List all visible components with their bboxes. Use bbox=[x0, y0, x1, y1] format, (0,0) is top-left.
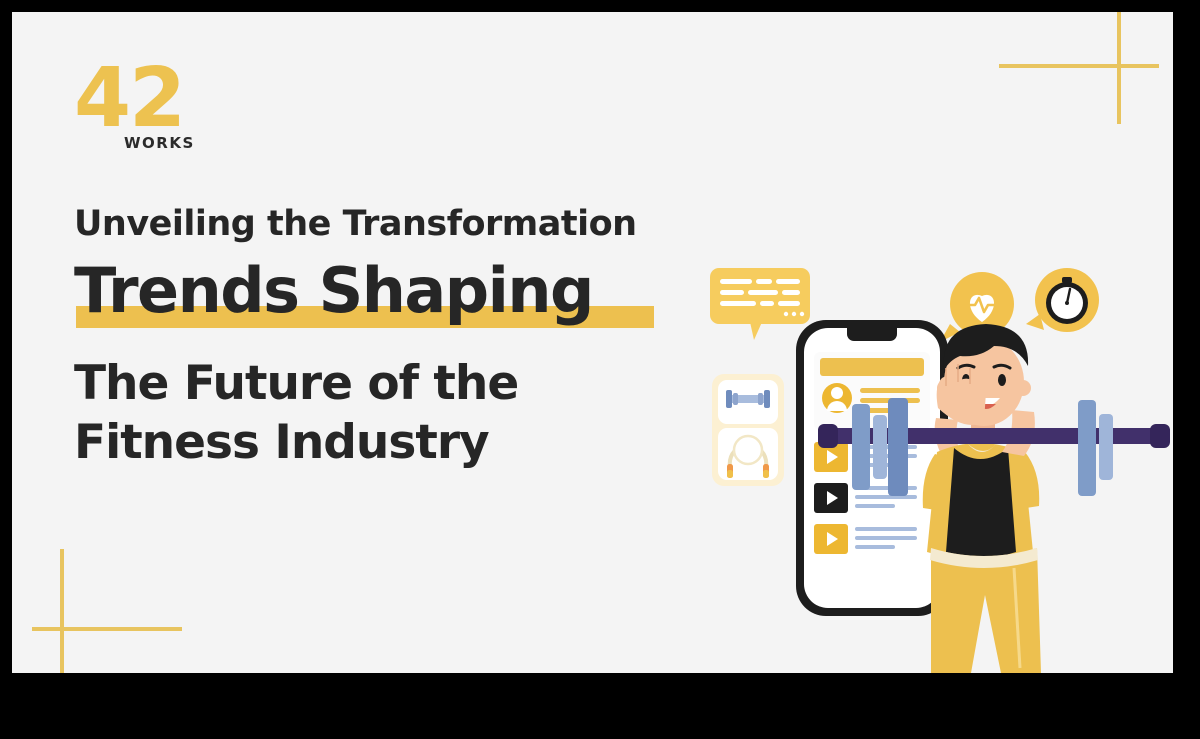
phone-mockup bbox=[796, 320, 948, 616]
headline-subline-2: Fitness Industry bbox=[74, 413, 694, 472]
fitness-app-hero-illustration bbox=[692, 252, 1172, 673]
equipment-card bbox=[712, 374, 784, 486]
headline-block: Unveiling the Transformation Trends Shap… bbox=[74, 204, 694, 473]
cross-horizontal-bar bbox=[999, 64, 1159, 68]
video-thumb-play-icon bbox=[814, 483, 848, 513]
brand-logo: 42 WORKS bbox=[74, 60, 274, 170]
chat-bubble-icon bbox=[710, 268, 810, 340]
cross-vertical-bar bbox=[60, 549, 64, 673]
headline-subline-1: The Future of the bbox=[74, 354, 694, 413]
logo-mark: 42 bbox=[74, 60, 274, 138]
logo-wordmark: WORKS bbox=[124, 134, 274, 152]
headline-highlighted-text: Trends Shaping bbox=[74, 256, 694, 325]
cross-horizontal-bar bbox=[32, 627, 182, 631]
stopwatch-badge-icon bbox=[1026, 268, 1099, 332]
slide-frame: 42 WORKS Unveiling the Transformation Tr… bbox=[0, 0, 1200, 739]
headline-eyebrow: Unveiling the Transformation bbox=[74, 204, 694, 244]
headline-highlight-wrapper: Trends Shaping bbox=[74, 256, 694, 334]
cross-vertical-bar bbox=[1117, 12, 1121, 124]
user-avatar-icon bbox=[822, 383, 852, 413]
headline-subline: The Future of the Fitness Industry bbox=[74, 354, 694, 472]
slide-canvas: 42 WORKS Unveiling the Transformation Tr… bbox=[12, 12, 1173, 673]
video-thumb-play-icon bbox=[814, 524, 848, 554]
plus-cross-icon-bottom-left bbox=[32, 549, 182, 673]
plus-cross-icon-top-right bbox=[999, 12, 1159, 124]
